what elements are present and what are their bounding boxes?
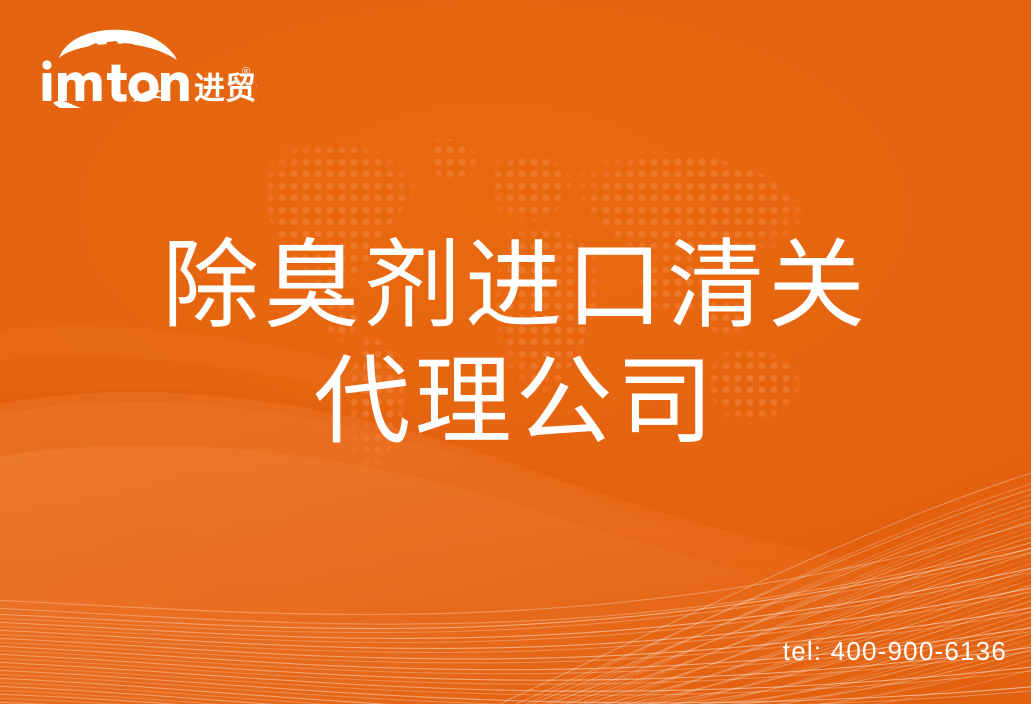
headline: 除臭剂进口清关 代理公司 <box>0 228 1031 460</box>
promo-banner: 进贸通 ® 除臭剂进口清关 代理公司 tel: 400-900-6136 <box>0 0 1031 704</box>
contact-phone[interactable]: tel: 400-900-6136 <box>783 636 1007 667</box>
headline-line-1: 除臭剂进口清关 <box>0 228 1031 344</box>
logo-wordmark <box>42 60 188 101</box>
company-logo[interactable]: 进贸通 ® <box>37 26 257 108</box>
headline-line-2: 代理公司 <box>0 344 1031 460</box>
registered-mark-icon: ® <box>242 66 250 78</box>
globe-dome-icon <box>59 30 177 60</box>
